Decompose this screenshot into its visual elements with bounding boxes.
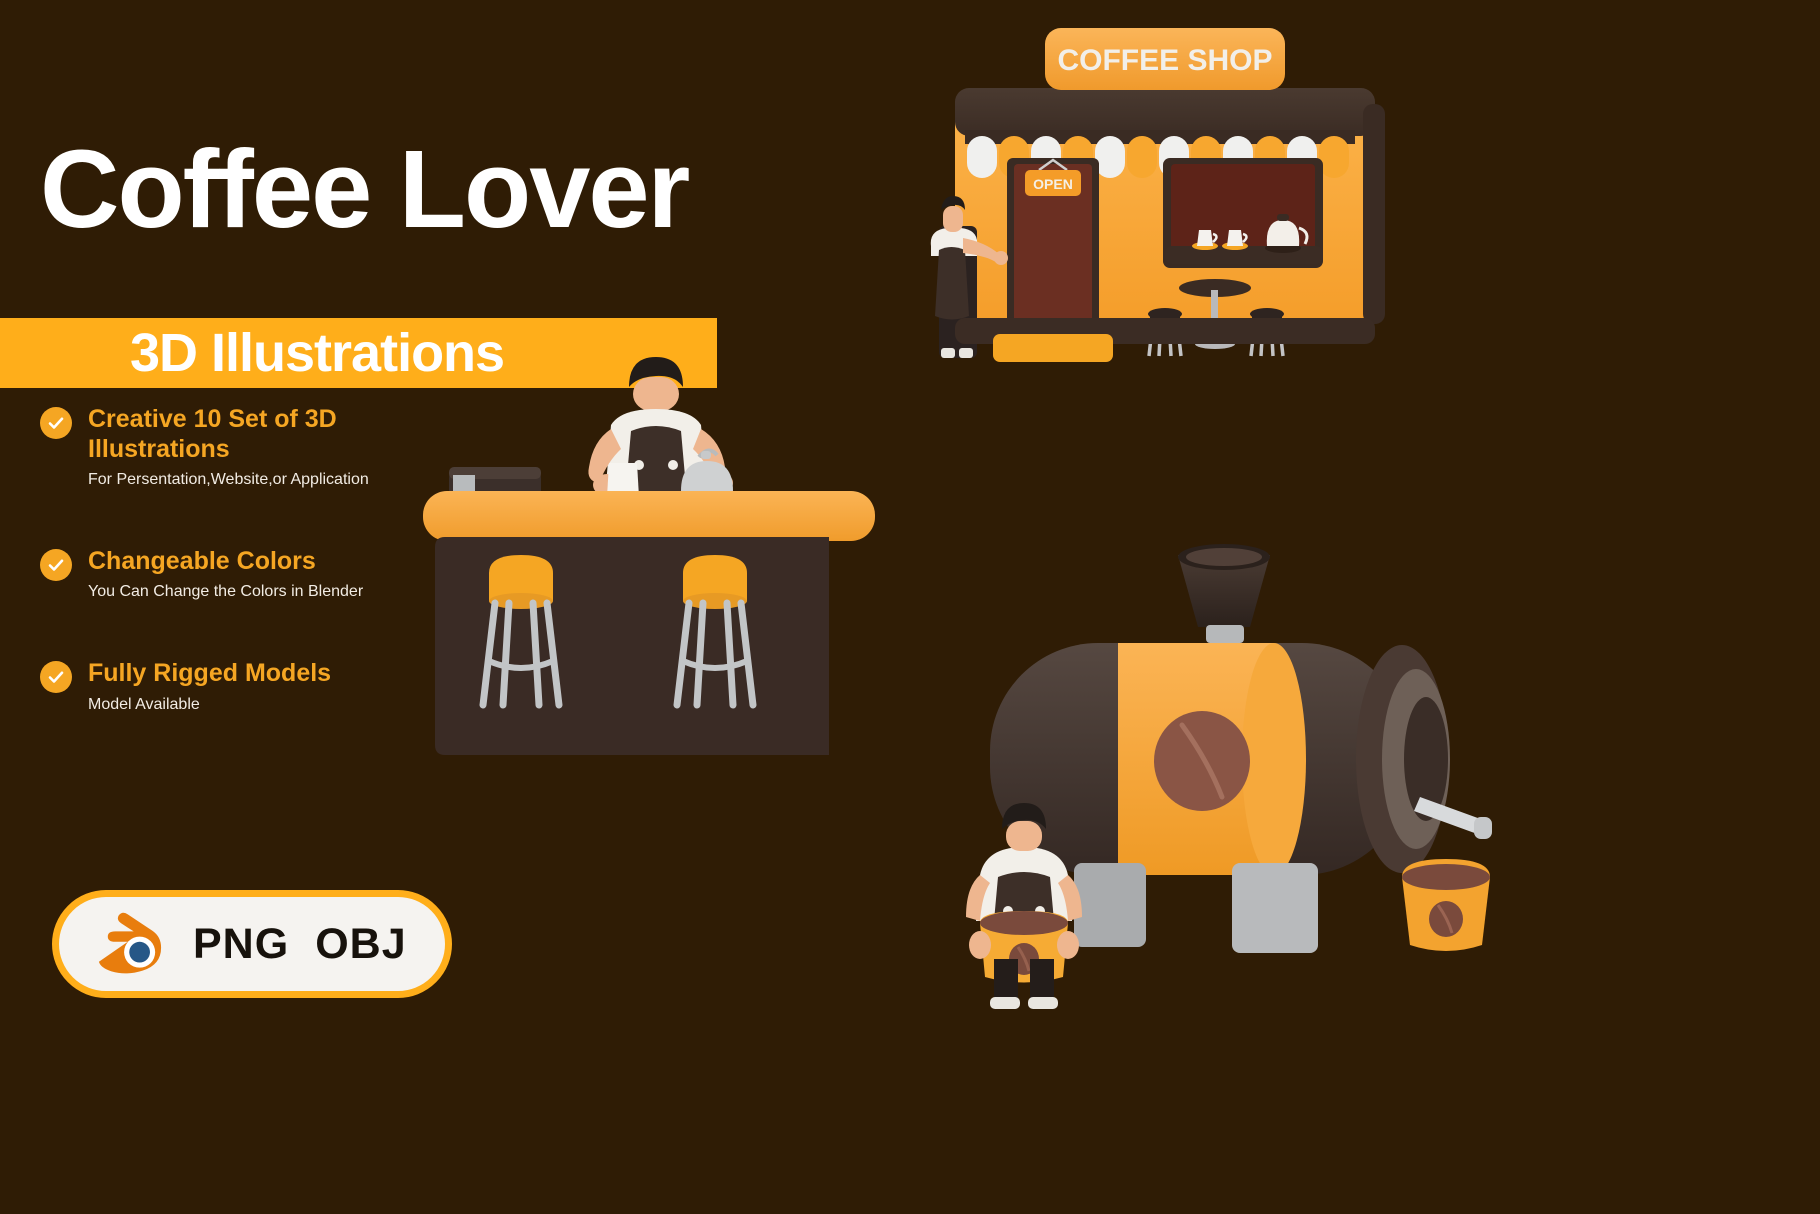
feature-subtitle: You Can Change the Colors in Blender bbox=[88, 582, 418, 603]
check-circle-icon bbox=[40, 549, 72, 581]
shop-sign-text: COFFEE SHOP bbox=[1057, 44, 1272, 77]
coffee-roaster-illustration bbox=[950, 545, 1510, 1015]
counter-top bbox=[423, 491, 875, 541]
feature-subtitle: Model Available bbox=[88, 695, 418, 716]
hopper bbox=[1178, 544, 1270, 643]
coffee-shop-storefront-illustration: COFFEE SHOP bbox=[915, 18, 1415, 378]
check-circle-icon bbox=[40, 407, 72, 439]
bean-pot bbox=[1402, 859, 1490, 951]
page-title: Coffee Lover bbox=[40, 135, 688, 245]
barista-at-counter-illustration bbox=[415, 325, 895, 775]
format-png-label: PNG bbox=[193, 920, 289, 969]
shop-fascia bbox=[955, 88, 1375, 136]
poster-canvas: Coffee Lover 3D Illustrations Creative 1… bbox=[0, 0, 1820, 1214]
coffee-bean-emblem bbox=[1154, 711, 1250, 811]
shop-side-wall bbox=[1363, 104, 1385, 324]
feature-item: Fully Rigged Models Model Available bbox=[40, 659, 470, 715]
feature-title: Fully Rigged Models bbox=[88, 659, 388, 689]
feature-subtitle: For Persentation,Website,or Application bbox=[88, 470, 418, 491]
open-sign-text: OPEN bbox=[1033, 176, 1073, 192]
feature-item: Changeable Colors You Can Change the Col… bbox=[40, 547, 470, 603]
feature-title: Changeable Colors bbox=[88, 547, 388, 577]
entrance-step bbox=[993, 334, 1113, 362]
feature-title: Creative 10 Set of 3D Illustrations bbox=[88, 405, 388, 464]
roaster-leg bbox=[1074, 863, 1146, 947]
check-circle-icon bbox=[40, 661, 72, 693]
feature-item: Creative 10 Set of 3D Illustrations For … bbox=[40, 405, 470, 491]
roaster-leg bbox=[1232, 863, 1318, 953]
feature-list: Creative 10 Set of 3D Illustrations For … bbox=[40, 405, 470, 753]
roaster-drum bbox=[990, 643, 1450, 875]
format-obj-label: OBJ bbox=[315, 920, 406, 969]
format-badge: PNG OBJ bbox=[52, 890, 452, 998]
barista-head bbox=[633, 377, 679, 411]
blender-logo-icon bbox=[93, 907, 167, 981]
